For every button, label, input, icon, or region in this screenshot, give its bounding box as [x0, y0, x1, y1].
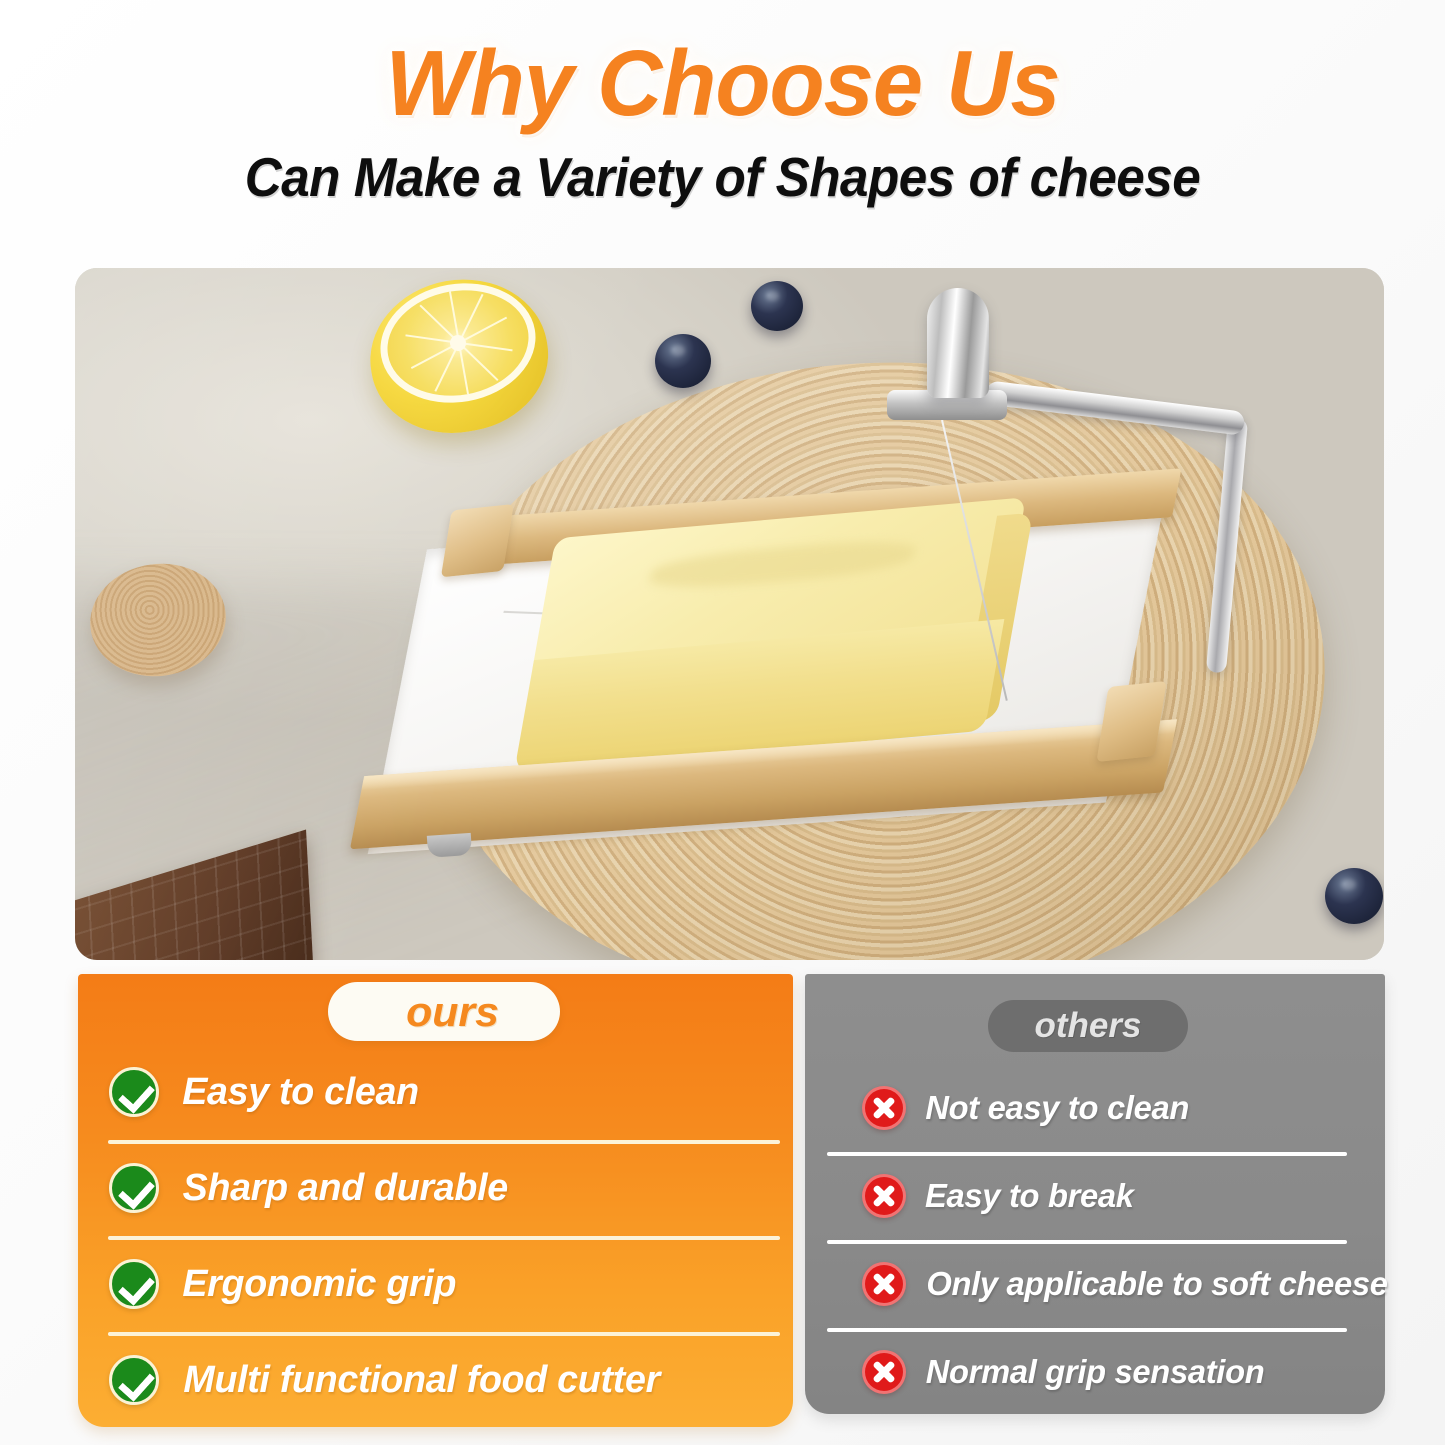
check-icon: [109, 1259, 159, 1309]
ours-item-label: Sharp and durable: [183, 1167, 508, 1210]
cross-icon: [862, 1174, 906, 1218]
page-subtitle: Can Make a Variety of Shapes of cheese: [51, 149, 1395, 207]
comparison-section: ours Easy to clean Sharp and durable Erg…: [0, 966, 1445, 1445]
infographic-page: Why Choose Us Can Make a Variety of Shap…: [0, 0, 1445, 1445]
blueberry: [655, 334, 711, 388]
cross-icon: [862, 1262, 906, 1306]
ours-feature-list: Easy to clean Sharp and durable Ergonomi…: [78, 1044, 793, 1428]
page-title: Why Choose Us: [22, 36, 1424, 131]
list-item: Not easy to clean: [805, 1064, 1385, 1152]
ours-item-label: Multi functional food cutter: [183, 1359, 660, 1402]
bamboo-post-left: [441, 504, 514, 577]
check-icon: [109, 1067, 159, 1117]
check-icon: [109, 1163, 159, 1213]
ours-item-label: Easy to clean: [182, 1071, 419, 1114]
others-item-label: Normal grip sensation: [926, 1353, 1265, 1391]
slicer-arm-horizontal: [985, 380, 1246, 436]
others-item-label: Easy to break: [925, 1177, 1134, 1215]
ours-badge: ours: [328, 982, 560, 1041]
others-badge: others: [988, 1000, 1188, 1052]
ours-panel: ours Easy to clean Sharp and durable Erg…: [78, 974, 793, 1427]
list-item: Only applicable to soft cheese: [805, 1240, 1385, 1328]
wire-slicer-handle: [845, 278, 1265, 698]
check-icon: [109, 1355, 159, 1405]
header: Why Choose Us Can Make a Variety of Shap…: [0, 36, 1445, 207]
ours-badge-label: ours: [407, 988, 500, 1036]
list-item: Normal grip sensation: [805, 1328, 1385, 1416]
blueberry: [751, 281, 803, 331]
others-item-label: Only applicable to soft cheese: [926, 1265, 1387, 1303]
others-badge-label: others: [1035, 1006, 1142, 1046]
cutting-wire: [941, 420, 1008, 701]
list-item: Sharp and durable: [78, 1140, 793, 1236]
list-item: Easy to clean: [78, 1044, 793, 1140]
list-item: Easy to break: [805, 1152, 1385, 1240]
list-item: Ergonomic grip: [78, 1236, 793, 1332]
others-panel: others Not easy to clean Easy to break O…: [805, 974, 1385, 1414]
cross-icon: [862, 1350, 906, 1394]
ours-item-label: Ergonomic grip: [182, 1263, 456, 1306]
board-foot: [427, 833, 472, 858]
blueberry: [1325, 868, 1383, 924]
cross-icon: [862, 1086, 906, 1130]
slicer-knob: [927, 288, 989, 398]
others-item-label: Not easy to clean: [925, 1089, 1189, 1127]
product-photo: [75, 268, 1384, 960]
slicer-arm-vertical: [1206, 418, 1248, 674]
others-feature-list: Not easy to clean Easy to break Only app…: [805, 1064, 1385, 1416]
lemon-half: [370, 280, 548, 432]
list-item: Multi functional food cutter: [78, 1332, 793, 1428]
